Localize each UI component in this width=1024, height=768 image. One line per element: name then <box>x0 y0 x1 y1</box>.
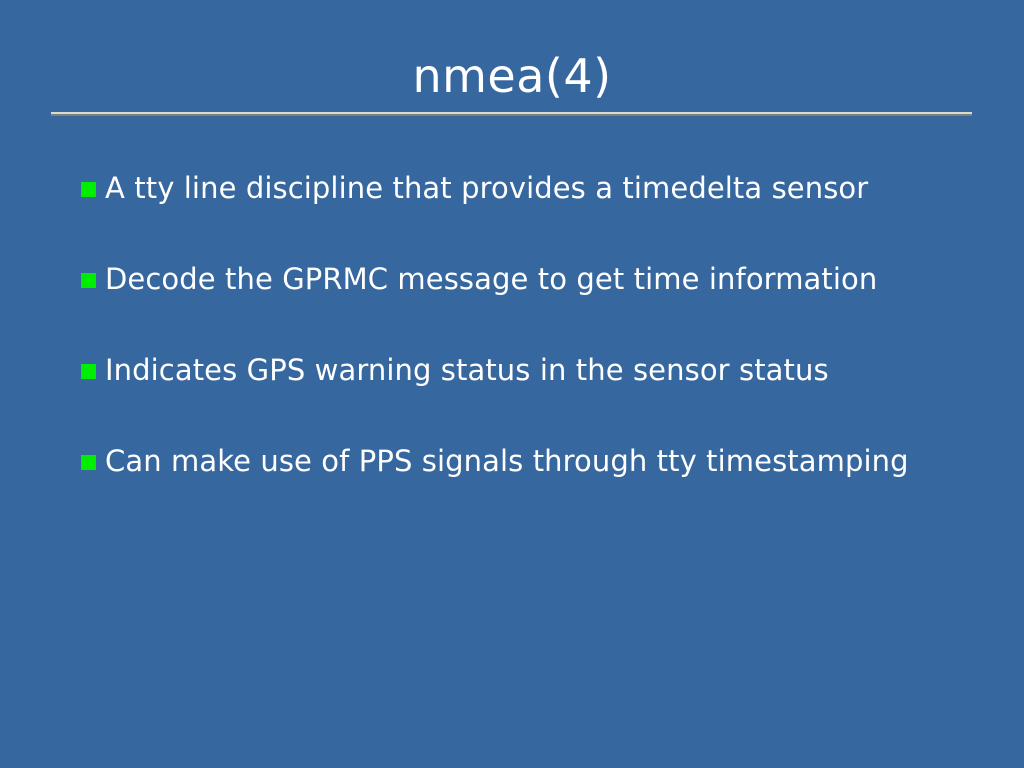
list-item-label: Decode the GPRMC message to get time inf… <box>105 259 981 299</box>
presentation-slide: nmea(4) A tty line discipline that provi… <box>0 0 1024 768</box>
green-square-bullet-icon <box>81 182 96 197</box>
list-item-label: A tty line discipline that provides a ti… <box>105 168 981 208</box>
list-item: Indicates GPS warning status in the sens… <box>81 350 981 441</box>
list-item: A tty line discipline that provides a ti… <box>81 168 981 259</box>
title-divider-rule <box>51 112 972 116</box>
divider-shadow <box>51 114 972 116</box>
list-item-label: Can make use of PPS signals through tty … <box>105 441 981 481</box>
green-square-bullet-icon <box>81 455 96 470</box>
green-square-bullet-icon <box>81 364 96 379</box>
list-item: Decode the GPRMC message to get time inf… <box>81 259 981 350</box>
bullet-list: A tty line discipline that provides a ti… <box>81 168 981 532</box>
page-title: nmea(4) <box>0 48 1024 104</box>
green-square-bullet-icon <box>81 273 96 288</box>
list-item: Can make use of PPS signals through tty … <box>81 441 981 532</box>
list-item-label: Indicates GPS warning status in the sens… <box>105 350 981 390</box>
